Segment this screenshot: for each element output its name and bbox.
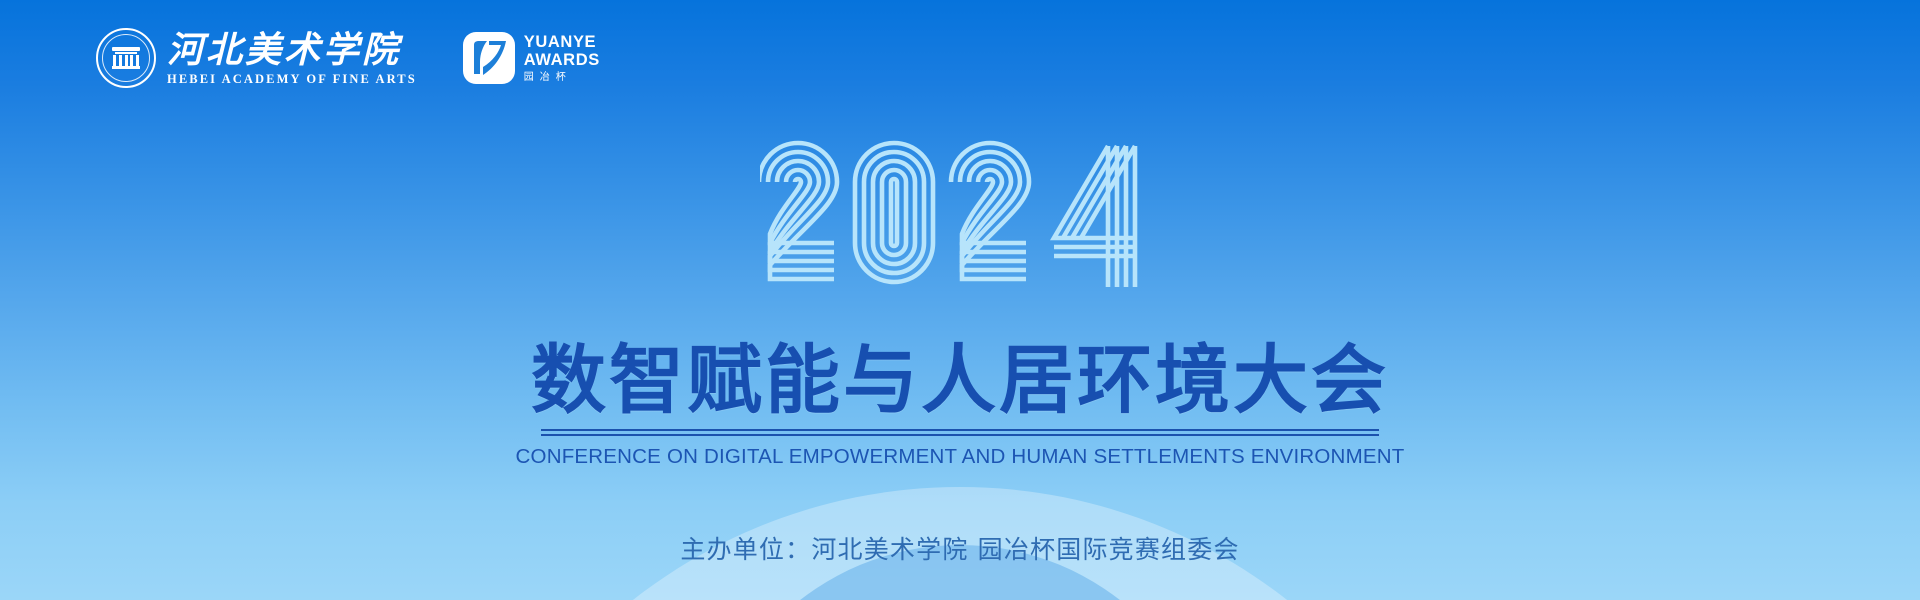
logo-hebei-academy[interactable]: 河北美术学院 HEBEI ACADEMY OF FINE ARTS xyxy=(96,28,417,88)
hebei-name-en: HEBEI ACADEMY OF FINE ARTS xyxy=(167,72,417,86)
conference-title-cn: 数智赋能与人居环境大会 xyxy=(0,337,1920,423)
yuanye-line1: YUANYE xyxy=(524,34,600,51)
year-2024-graphic xyxy=(760,138,1160,293)
title-block: 数智赋能与人居环境大会 CONFERENCE ON DIGITAL EMPOWE… xyxy=(0,337,1920,469)
yuanye-line2: AWARDS xyxy=(524,52,600,69)
seal-gate-icon xyxy=(96,28,156,88)
yuanye-mark-icon xyxy=(463,32,515,84)
logo-yuanye-awards[interactable]: YUANYE AWARDS 园冶杯 xyxy=(463,32,600,84)
logo-row: 河北美术学院 HEBEI ACADEMY OF FINE ARTS YUANYE… xyxy=(96,28,600,88)
conference-banner: 河北美术学院 HEBEI ACADEMY OF FINE ARTS YUANYE… xyxy=(0,0,1920,600)
conference-title-en: CONFERENCE ON DIGITAL EMPOWERMENT AND HU… xyxy=(0,445,1920,469)
hebei-name-cn: 河北美术学院 xyxy=(167,30,417,70)
organizer-line: 主办单位：河北美术学院 园冶杯国际竞赛组委会 xyxy=(0,533,1920,567)
title-divider-rules xyxy=(541,429,1379,436)
yuanye-line3: 园冶杯 xyxy=(524,73,600,83)
